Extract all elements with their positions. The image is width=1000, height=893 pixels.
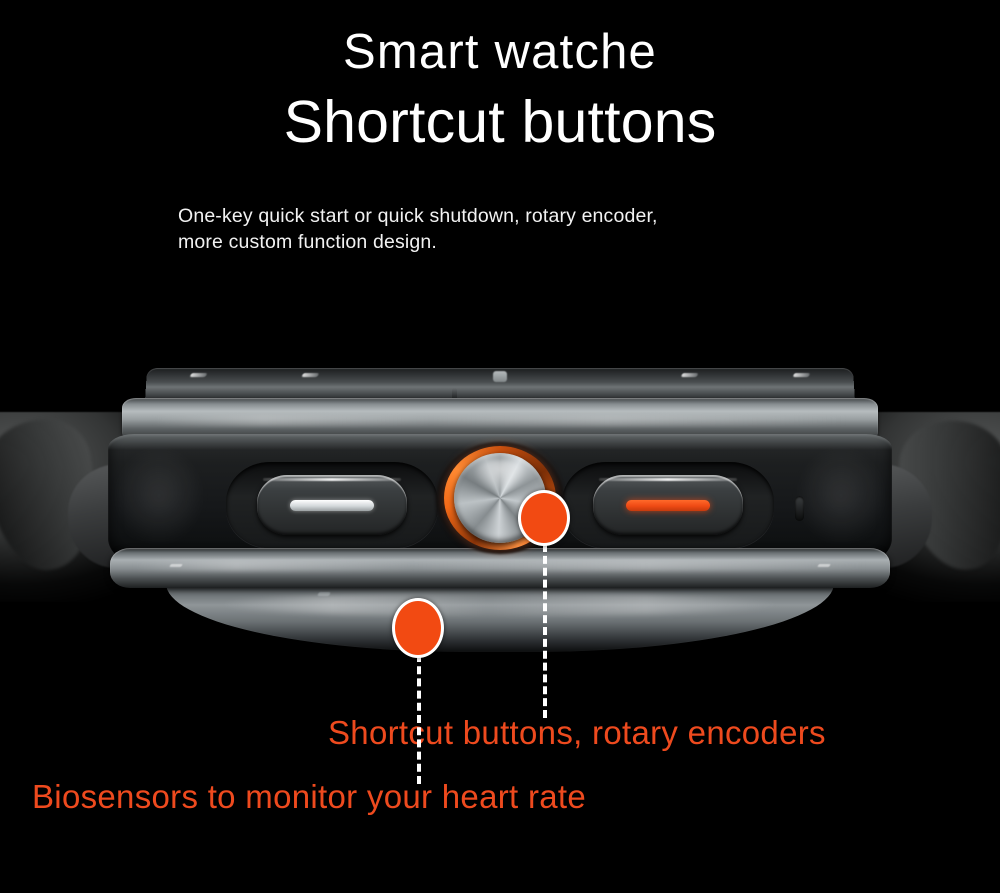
speaker-slot-icon	[795, 496, 804, 521]
bezel-notch-4	[793, 373, 810, 377]
marker-dot-biosensor[interactable]	[392, 598, 444, 658]
page-subtitle: Shortcut buttons	[0, 78, 1000, 154]
bezel-notch-1	[190, 373, 208, 377]
bezel-notch-2	[301, 373, 319, 377]
heading-block: Smart watche Shortcut buttons	[0, 0, 1000, 154]
screen-bezel-top	[145, 368, 855, 402]
shortcut-button-left[interactable]	[257, 475, 407, 535]
rim-tick-1	[169, 564, 182, 567]
caption-biosensors-heart-rate: Biosensors to monitor your heart rate	[32, 778, 586, 816]
right-button-stripe-icon	[626, 500, 710, 511]
marker-dot-rotary-encoder[interactable]	[518, 490, 570, 546]
left-button-stripe-icon	[290, 500, 374, 511]
tagline-line-2: more custom function design.	[178, 230, 878, 256]
tagline: One-key quick start or quick shutdown, r…	[178, 204, 878, 255]
body-sheen-left	[114, 446, 204, 546]
rim-tick-2	[817, 564, 830, 567]
tagline-line-1: One-key quick start or quick shutdown, r…	[178, 204, 878, 230]
product-poster: Smart watche Shortcut buttons One-key qu…	[0, 0, 1000, 893]
caseback-pin-mark	[317, 592, 330, 596]
page-title: Smart watche	[0, 0, 1000, 78]
bezel-center-marker	[493, 371, 507, 382]
caption-shortcut-buttons-rotary-encoders: Shortcut buttons, rotary encoders	[328, 714, 826, 752]
right-button-housing	[562, 462, 774, 548]
bezel-notch-3	[681, 373, 698, 377]
shortcut-button-right[interactable]	[593, 475, 743, 535]
body-sheen-right	[796, 446, 886, 546]
leader-line-rotary-encoder	[543, 544, 547, 718]
leader-line-biosensor	[417, 654, 421, 784]
product-image-smart-watch	[0, 352, 1000, 672]
left-button-housing	[226, 462, 438, 548]
